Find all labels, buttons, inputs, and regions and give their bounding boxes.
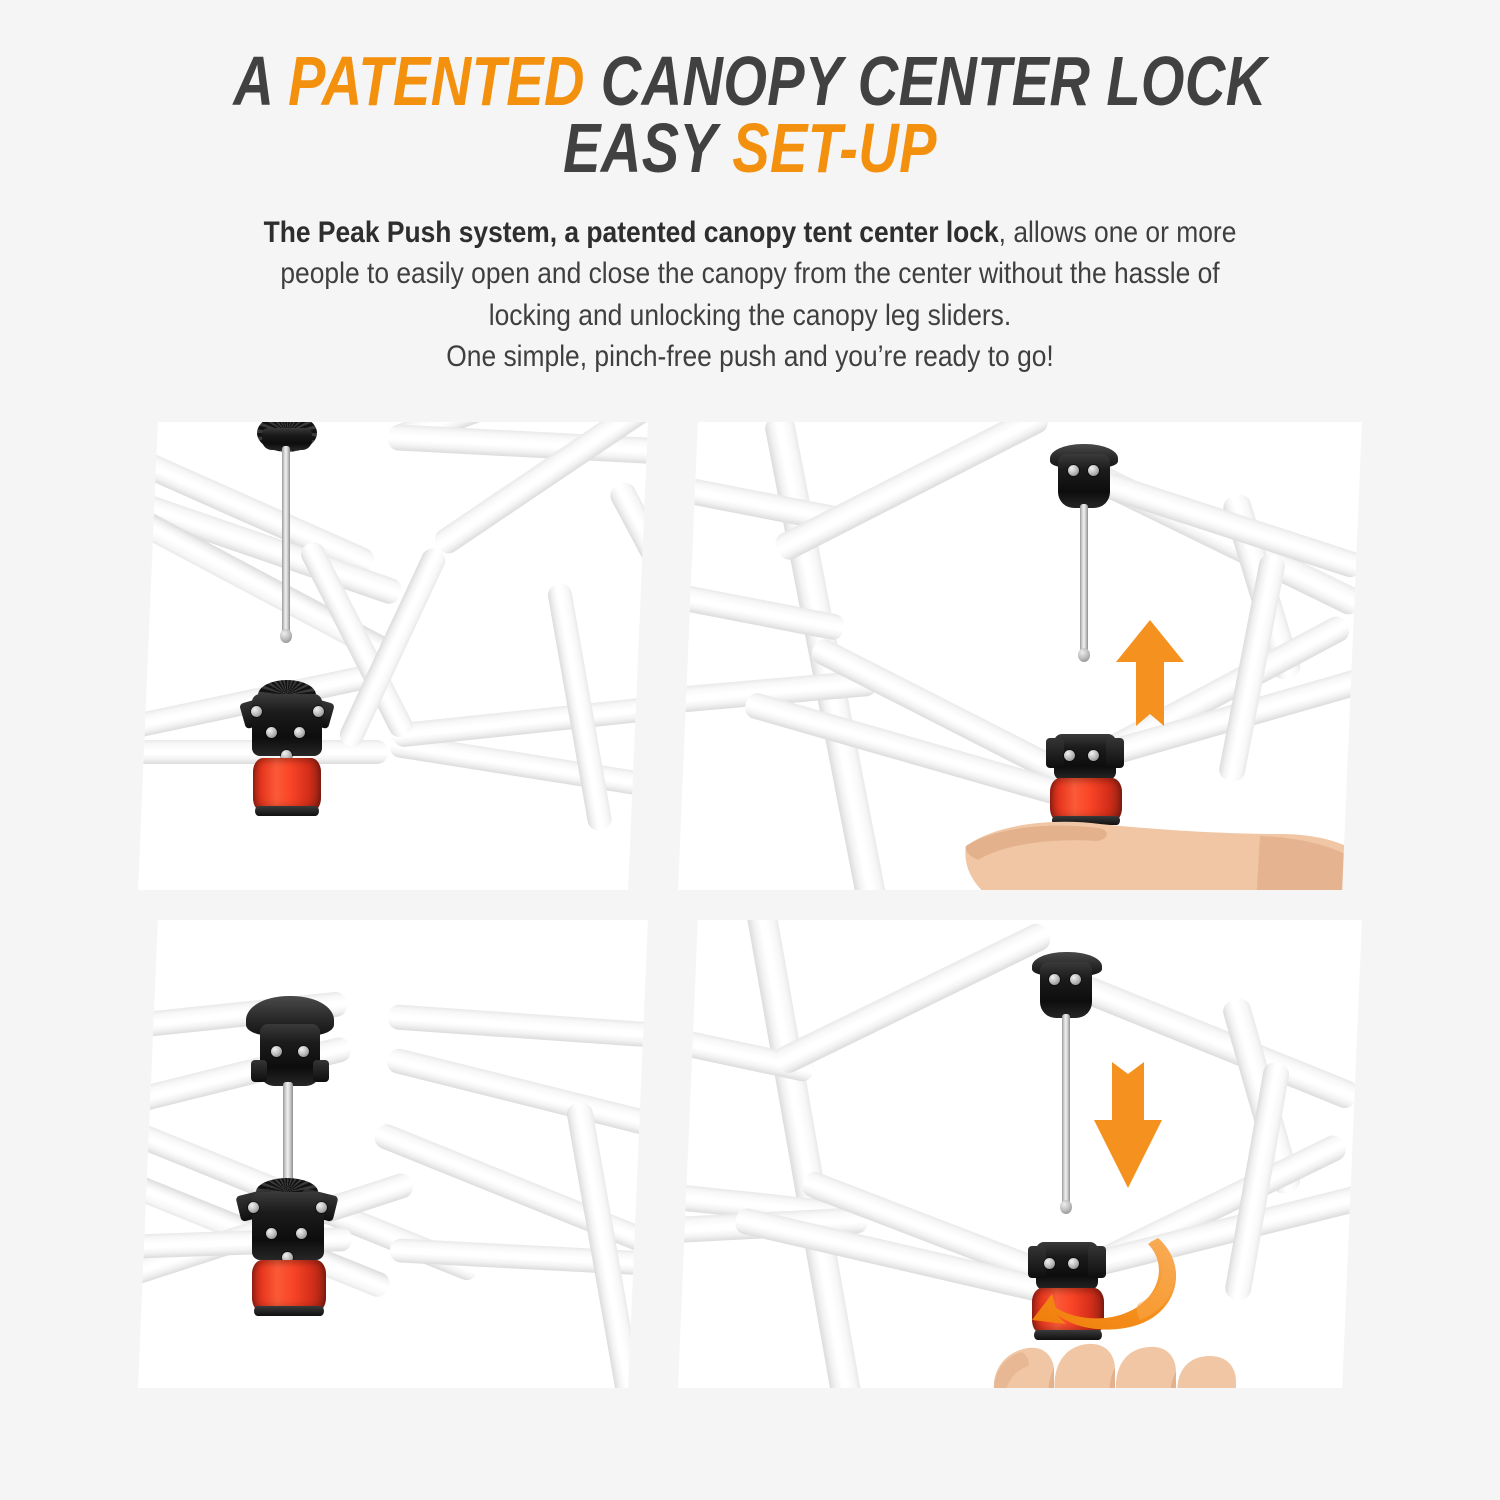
center-lock-engaged-closeup xyxy=(138,920,648,1388)
canopy-leg-tube xyxy=(745,920,865,1388)
arrow-down-icon xyxy=(1090,1058,1166,1190)
hub-screw-icon xyxy=(1088,750,1099,761)
upper-hub xyxy=(260,1024,320,1086)
steel-push-rod xyxy=(1062,1014,1070,1206)
canopy-tube xyxy=(772,920,1054,1077)
description-line-4: One simple, pinch-free push and you’re r… xyxy=(90,336,1410,377)
hub-screw-icon xyxy=(271,1046,282,1057)
hub-screw-icon xyxy=(313,706,324,717)
red-collar xyxy=(253,758,321,812)
title-word-easy: EASY xyxy=(563,109,732,187)
hub-screw-icon xyxy=(1088,465,1099,476)
canopy-tube xyxy=(385,1046,648,1143)
title-word-a: A xyxy=(233,42,288,120)
hub-screw-icon xyxy=(298,1046,309,1057)
upper-hub xyxy=(1058,454,1110,508)
canopy-tube xyxy=(1072,463,1362,580)
hub-ear xyxy=(313,1060,329,1082)
description-line-1-rest: , allows one or more xyxy=(999,216,1237,249)
steel-push-rod xyxy=(1080,504,1088,654)
hub-screw-icon xyxy=(1064,750,1075,761)
hub-ear xyxy=(251,1060,267,1082)
hub-screw-icon xyxy=(316,1202,327,1213)
title-word-patented: PATENTED xyxy=(288,42,585,120)
rod-tip-icon xyxy=(1060,1200,1072,1214)
hub-screw-icon xyxy=(266,1228,277,1239)
hub-ear xyxy=(1106,738,1124,768)
steel-push-rod xyxy=(282,446,290,636)
collar-rim xyxy=(255,806,319,816)
hub-screw-icon xyxy=(251,706,262,717)
upper-hub xyxy=(1040,962,1092,1018)
canopy-tube xyxy=(772,422,1052,563)
collar-rim xyxy=(254,1306,324,1316)
hub-screw-icon xyxy=(266,727,277,738)
page-title: A PATENTED CANOPY CENTER LOCK EASY SET-U… xyxy=(0,0,1500,182)
canopy-frame-open-closeup xyxy=(138,422,648,890)
hub-ear xyxy=(1046,738,1064,768)
description-line-3: locking and unlocking the canopy leg sli… xyxy=(90,295,1410,336)
panel-top-left[interactable] xyxy=(138,422,648,890)
red-collar xyxy=(252,1260,326,1312)
hub-screw-icon xyxy=(1049,974,1060,985)
hub-screw-icon xyxy=(1068,465,1079,476)
arrow-up-icon xyxy=(1114,618,1186,740)
canopy-tube xyxy=(387,1004,648,1050)
description-line-1: The Peak Push system, a patented canopy … xyxy=(90,212,1410,253)
hub-screw-icon xyxy=(296,1228,307,1239)
title-word-set-up: SET-UP xyxy=(732,109,937,187)
product-photo-grid xyxy=(0,420,1500,1400)
description-line-2: people to easily open and close the cano… xyxy=(90,253,1410,294)
panel-bottom-right[interactable] xyxy=(678,920,1362,1388)
hub-screw-icon xyxy=(1070,974,1081,985)
hub-screw-icon xyxy=(248,1202,259,1213)
description-lead-bold: The Peak Push system, a patented canopy … xyxy=(264,216,999,249)
hand-pushing-up-center-lock xyxy=(678,422,1362,890)
canopy-tube xyxy=(392,694,648,748)
hand-pinching-fingers xyxy=(978,1308,1238,1388)
lower-hub xyxy=(252,694,322,756)
lower-hub xyxy=(252,1192,324,1260)
rod-tip-icon xyxy=(1078,648,1090,662)
page-title-line-2: EASY SET-UP xyxy=(150,115,1350,182)
panel-top-right[interactable] xyxy=(678,422,1362,890)
page-title-line-1: A PATENTED CANOPY CENTER LOCK xyxy=(150,48,1350,115)
steel-push-rod xyxy=(283,1082,293,1190)
canopy-tube xyxy=(607,479,648,632)
panel-bottom-left[interactable] xyxy=(138,920,648,1388)
description-paragraph: The Peak Push system, a patented canopy … xyxy=(0,212,1500,376)
hand-twisting-release-center-lock xyxy=(678,920,1362,1388)
rod-tip-icon xyxy=(280,629,292,643)
hub-screw-icon xyxy=(294,727,305,738)
hand-open-palm xyxy=(960,794,1362,890)
